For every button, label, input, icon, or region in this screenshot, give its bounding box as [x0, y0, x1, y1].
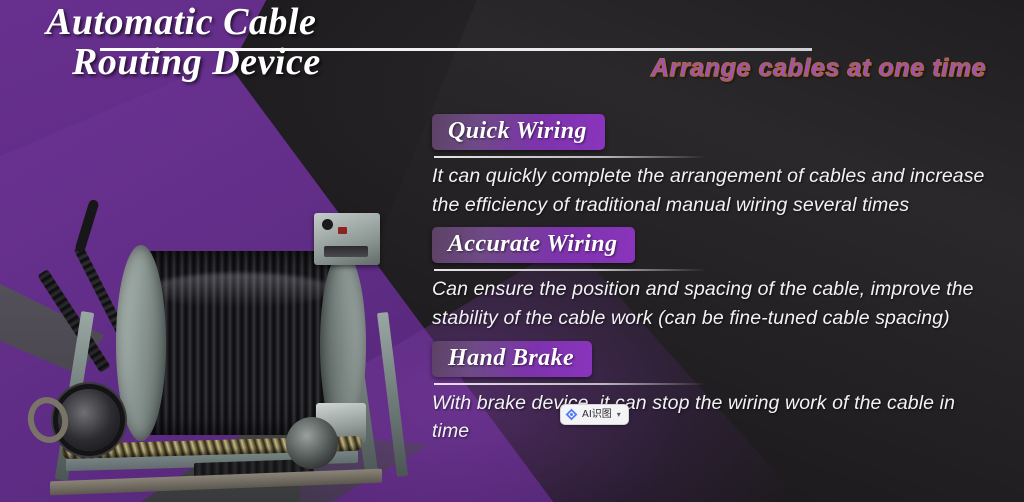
chevron-down-icon[interactable]: ▾ [616, 411, 623, 419]
status-badge: Quick Wiring [432, 114, 605, 150]
control-indicator [338, 227, 347, 234]
feature-divider [434, 156, 706, 158]
control-box [314, 213, 380, 265]
feature-divider [434, 383, 706, 385]
ai-widget-label: AI识图 [582, 410, 612, 420]
title-divider [100, 48, 812, 51]
feature-item: Accurate Wiring Can ensure the position … [432, 227, 992, 332]
feature-list: Quick Wiring It can quickly complete the… [432, 114, 992, 446]
cable-end [74, 199, 99, 254]
product-image [24, 205, 414, 495]
cable-reel [74, 227, 326, 415]
feature-divider [434, 269, 706, 271]
drive-pulley [286, 417, 338, 469]
cable-coil-highlight [148, 273, 334, 307]
feature-badge-label: Accurate Wiring [448, 231, 617, 257]
product-banner: Automatic Cable Routing Device Arrange c… [0, 0, 1024, 502]
feature-badge-label: Hand Brake [448, 345, 574, 371]
control-slot [324, 246, 368, 257]
ai-recognition-widget[interactable]: AI识图 ▾ [560, 404, 629, 425]
feature-badge-label: Quick Wiring [448, 118, 587, 144]
feature-item: Quick Wiring It can quickly complete the… [432, 114, 992, 219]
control-knob [322, 219, 333, 230]
feature-description: With brake device, it can stop the wirin… [432, 389, 988, 446]
reel-flange-left [116, 245, 166, 441]
status-badge: Hand Brake [432, 341, 592, 377]
title-line-1: Automatic Cable [46, 2, 846, 42]
tagline: Arrange cables at one time [651, 54, 986, 83]
feature-description: Can ensure the position and spacing of t… [432, 275, 988, 332]
feature-item: Hand Brake With brake device, it can sto… [432, 341, 992, 446]
frame-leg-right-secondary [377, 312, 408, 477]
status-badge: Accurate Wiring [432, 227, 635, 263]
ai-diamond-icon [565, 408, 578, 421]
feature-description: It can quickly complete the arrangement … [432, 162, 988, 219]
